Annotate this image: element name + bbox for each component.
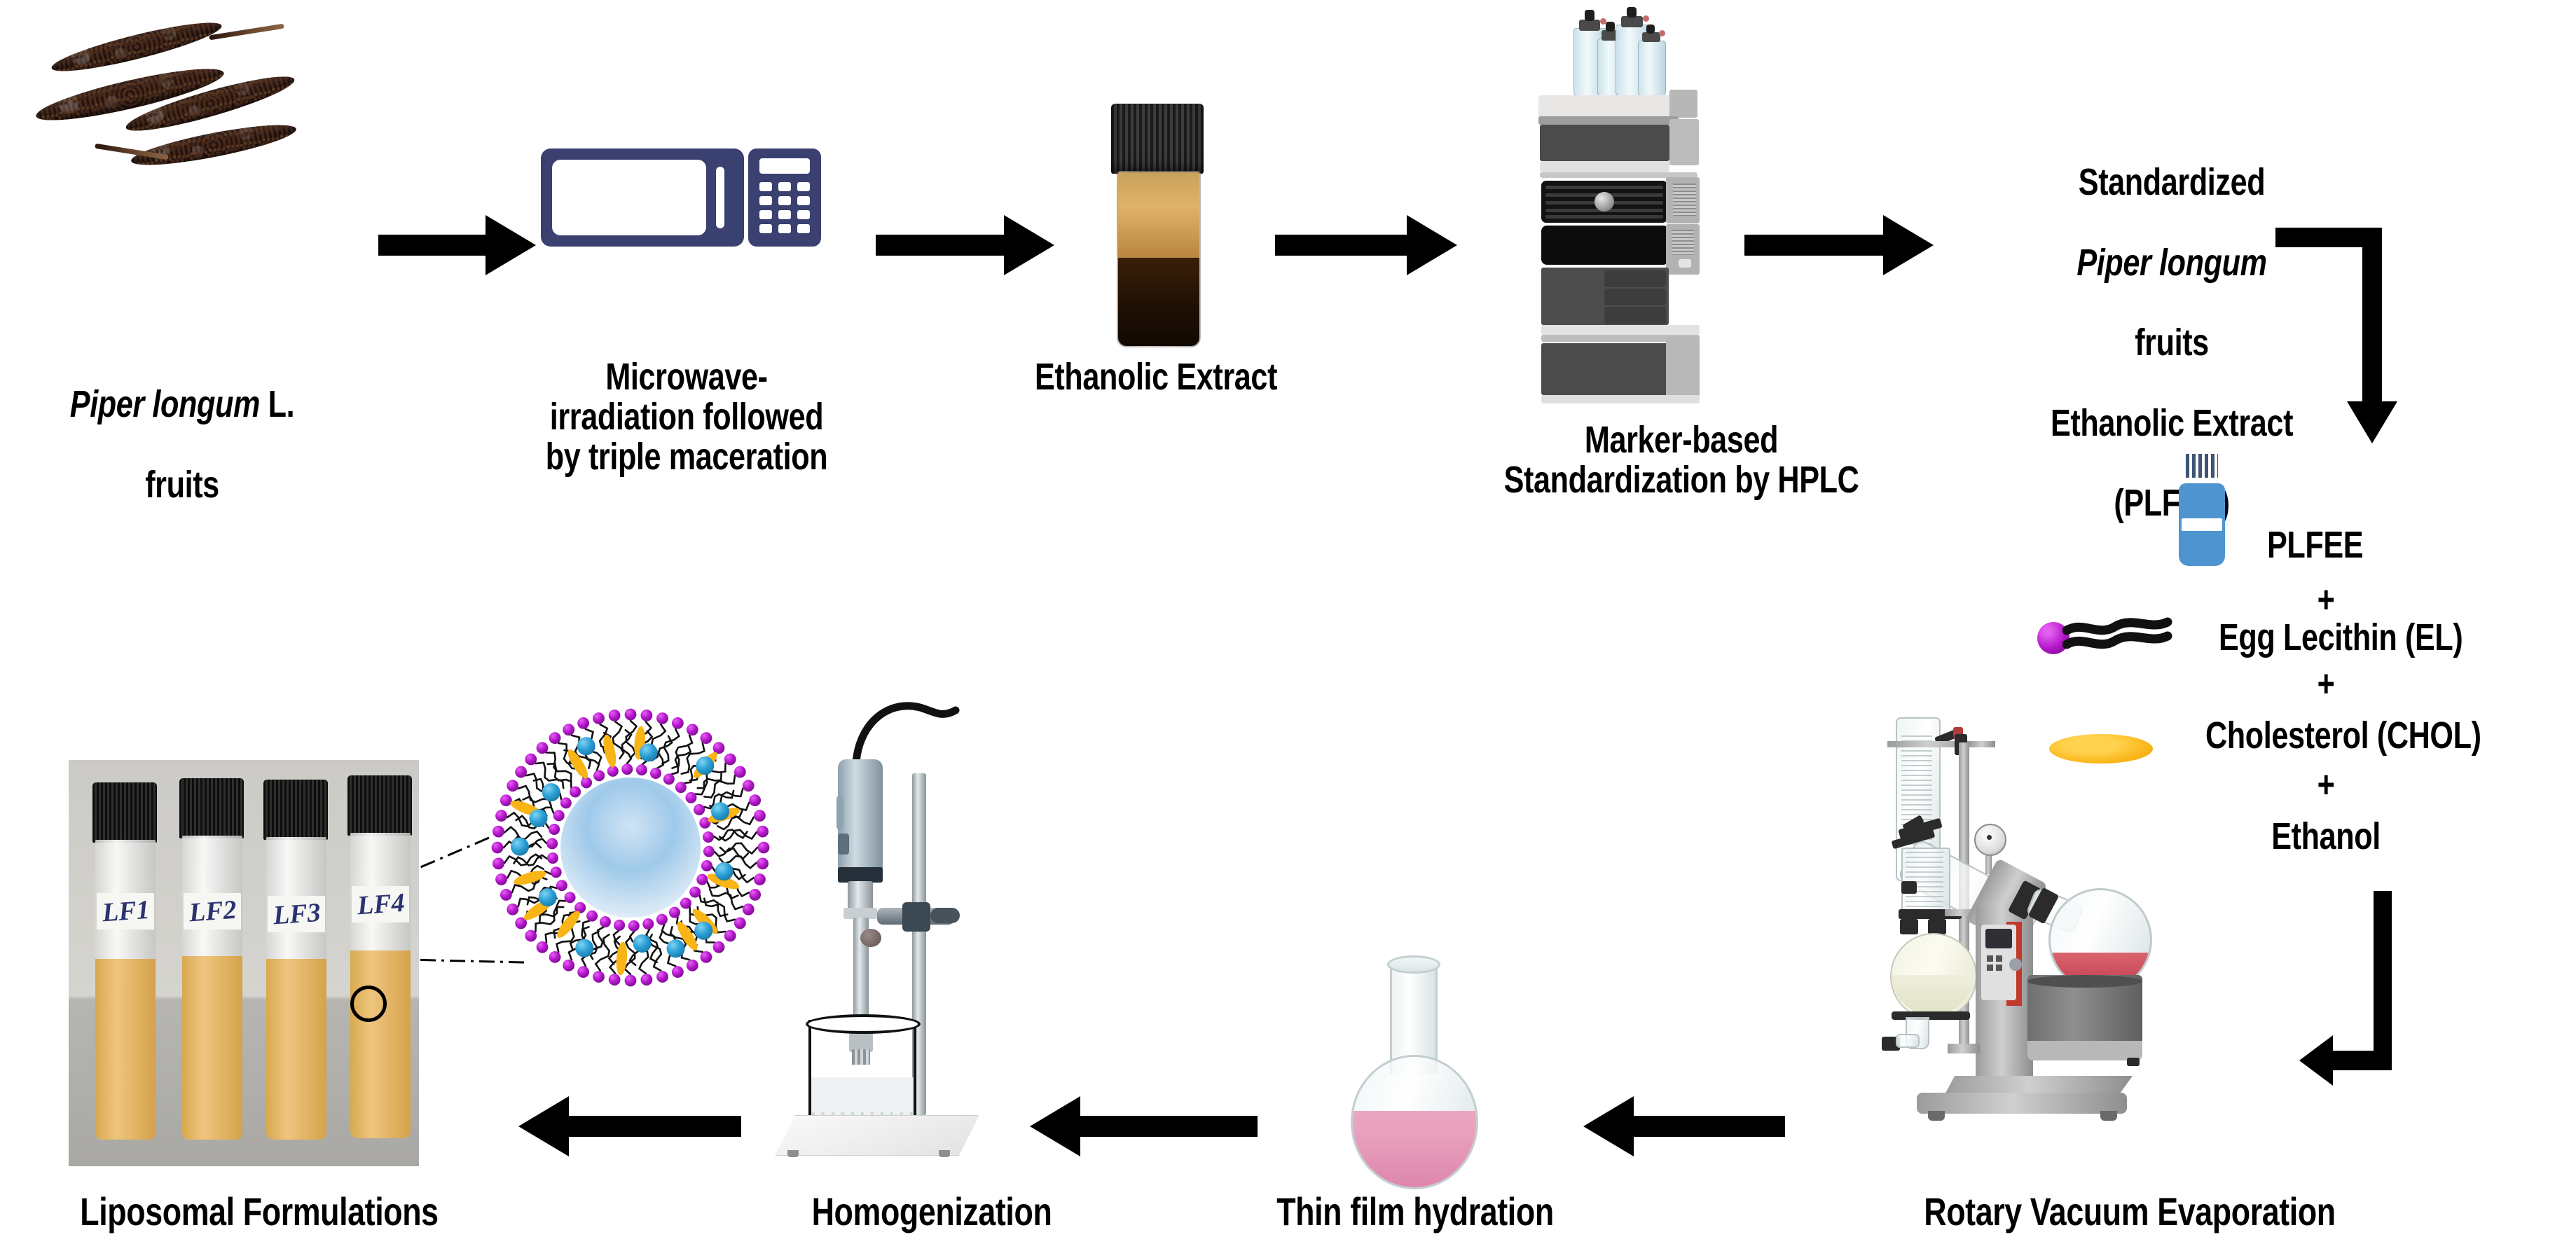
liposome-callout-marker — [350, 986, 387, 1022]
vial-lf3: LF3 — [256, 780, 335, 1144]
plfee-line-extract: Ethanolic Extract — [2051, 402, 2293, 444]
vial-lf3-label: LF3 — [273, 897, 322, 932]
vial-lf4: LF4 — [340, 775, 419, 1140]
vial-lf4-label: LF4 — [357, 887, 406, 922]
arrow-plfee-to-ingredients — [2275, 228, 2416, 452]
ingredient-plus-3: + — [2219, 765, 2432, 805]
piper-longum-fruits-photo — [28, 14, 322, 154]
vial-lf1: LF1 — [85, 782, 164, 1147]
ingredient-label-egg-lecithin: Egg Lecithin (EL) — [2219, 618, 2566, 658]
ingredient-label-cholesterol: Cholesterol (CHOL) — [2205, 716, 2576, 756]
arrow-ingredients-to-rotavap — [2312, 891, 2494, 1101]
ingredient-plus-1: + — [2219, 580, 2432, 620]
rotary-evaporator-icon — [1841, 714, 2212, 1149]
piper-fruits-species: Piper longum — [70, 383, 260, 425]
microwave-oven-icon — [541, 148, 821, 247]
liposomal-formulations-caption: Liposomal Formulations — [52, 1191, 467, 1232]
ingredient-label-plfee: PLFEE — [2267, 525, 2469, 565]
hplc-instrument-icon — [1526, 7, 1736, 434]
extract-vial-photo — [1098, 104, 1218, 342]
phospholipid-molecule-icon — [2037, 616, 2184, 660]
liposome-cross-section — [483, 700, 778, 995]
round-bottom-flask-icon — [1331, 960, 1492, 1191]
thin-film-hydration-caption: Thin film hydration — [1191, 1191, 1639, 1232]
rotary-evaporation-caption: Rotary Vacuum Evaporation — [1878, 1191, 2382, 1232]
piper-fruits-part: fruits — [145, 464, 219, 506]
plfee-bottle-icon — [2166, 454, 2236, 580]
piper-fruits-authority: L. — [260, 383, 294, 425]
plfee-line-fruits: fruits — [2135, 322, 2209, 364]
figure-canvas: Piper longum L. fruits Microwave- irradi… — [0, 0, 2576, 1251]
piper-fruits-caption: Piper longum L. fruits — [36, 345, 328, 505]
vial-lf1-label: LF1 — [102, 894, 151, 929]
hplc-caption: Marker-based Standardization by HPLC — [1463, 420, 1900, 500]
microwave-caption: Microwave- irradiation followed by tripl… — [530, 357, 843, 478]
homogenizer-icon — [771, 700, 1002, 1191]
vial-lf2: LF2 — [172, 778, 251, 1142]
ethanolic-extract-caption: Ethanolic Extract — [999, 357, 1313, 397]
plfee-line-species: Piper longum — [2076, 242, 2266, 284]
ingredient-plus-2: + — [2219, 664, 2432, 704]
plfee-line-standardized: Standardized — [2079, 161, 2265, 203]
vial-lf2-label: LF2 — [188, 894, 237, 929]
homogenization-caption: Homogenization — [747, 1191, 1117, 1232]
liposome-vials-photo: LF1 LF2 LF3 LF4 — [69, 760, 419, 1166]
ingredient-label-ethanol: Ethanol — [2219, 817, 2432, 857]
